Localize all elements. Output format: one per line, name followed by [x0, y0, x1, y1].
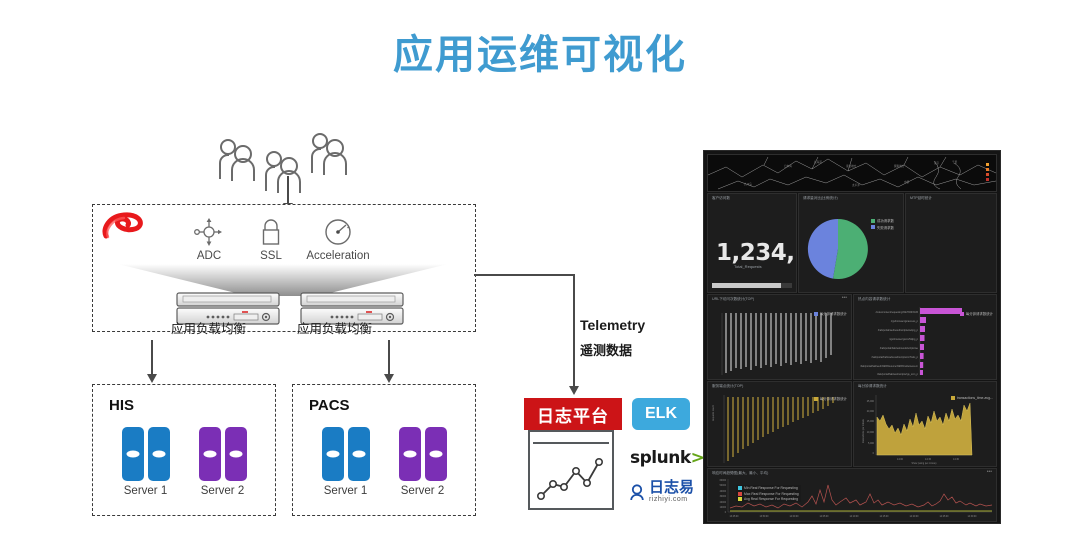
svg-text:/hab/portal/hab/webresult/scri: /hab/portal/hab/webresult/scripts/cn/Too… [871, 356, 918, 359]
svg-text:13:45:00: 13:45:00 [730, 516, 740, 518]
svg-text:太平洋: 太平洋 [852, 183, 860, 187]
svg-text:14:30:00: 14:30:00 [968, 516, 978, 518]
goldseries-legend: transactions_time-avg-.. [951, 396, 993, 400]
svg-text:60000: 60000 [720, 480, 727, 482]
svg-text:14:00: 14:00 [897, 458, 904, 461]
pie-legend: 成功请求数 失败请求数 [871, 218, 894, 230]
svg-text:13:50:00: 13:50:00 [760, 516, 770, 518]
svg-text:/rgs/browse/rgs/access_p: /rgs/browse/rgs/access_p [891, 320, 919, 323]
svg-text:/rgs/browse/rgs/cn/Mdpg_p: /rgs/browse/rgs/cn/Mdpg_p [889, 338, 919, 341]
splunk-wordmark: splunk [630, 448, 691, 468]
legend-item: Min Real Response For Requesting [744, 486, 798, 490]
server-label: Server 2 [199, 485, 247, 497]
svg-text:中部: 中部 [904, 180, 910, 184]
dashboard-screenshot: 九州岛日本海北海道 東北地方太平洋関東地方 中部東京千葉 客户访问数 1,234… [703, 150, 1001, 524]
svg-text:40000: 40000 [720, 491, 727, 493]
server-label: Server 2 [399, 485, 447, 497]
log-platform-button[interactable]: 日志平台 [524, 398, 622, 430]
dashboard-panel-urlbars: URL下访问次数统计(TOP) ••• [707, 294, 852, 380]
rizhiyi-logo: 日志易 rizhiyi.com [628, 480, 694, 503]
svg-text:50000: 50000 [720, 485, 727, 487]
svg-text:日本海: 日本海 [784, 164, 792, 168]
appliance-label: 应用负载均衡 [171, 318, 246, 337]
feature-acceleration: Acceleration [293, 216, 383, 262]
feature-label: Acceleration [293, 250, 383, 262]
svg-text:/hab/portal/hab/web/scripts/rg: /hab/portal/hab/web/scripts/rgs_s/cn_p [877, 373, 919, 376]
total-caption: Total_Requests [734, 264, 762, 269]
svg-text:requests count: requests count [712, 405, 715, 421]
dashboard-panel-blank: MTP延时统计 [905, 193, 997, 293]
dashboard-panel-pie: 请求量对比(比例统计) 成功请求数 失败请求数 [798, 193, 904, 293]
svg-text:0: 0 [725, 512, 727, 514]
group-pacs: PACS Server 1 Server 2 [292, 384, 476, 516]
server-item: Server 2 [199, 427, 247, 497]
svg-text:5,000: 5,000 [868, 442, 875, 445]
legend-item: transactions_time-avg-.. [957, 396, 993, 400]
bar-chart-gold: requests count [708, 391, 851, 465]
telemetry-label-cn: 遥测数据 [580, 340, 632, 359]
svg-text:14:10:00: 14:10:00 [850, 516, 860, 518]
svg-text:transactions per minute: transactions per minute [862, 418, 865, 443]
svg-text:/hab/portal/hab/webresult/scri: /hab/portal/hab/webresult/scripts/we [880, 347, 919, 350]
svg-text:九州岛: 九州岛 [744, 182, 752, 186]
response-legend: Min Real Response For Requesting Max Rea… [736, 485, 801, 502]
svg-text:14:05:00: 14:05:00 [820, 516, 830, 518]
group-title-his: HIS [109, 397, 134, 414]
users-group-icon [216, 132, 356, 184]
rizhiyi-domain: rizhiyi.com [649, 496, 694, 503]
legend-item: 每分钟请求数统计 [966, 311, 993, 316]
dashboard-panel-gold: 服务端点统计(TOP) requests count [707, 381, 852, 467]
page-title: 应用运维可视化 [0, 22, 1080, 80]
panel-scrollbar[interactable] [712, 283, 792, 288]
legend-item: Max Real Response For Requesting [744, 492, 799, 496]
rizhiyi-wordmark: 日志易 [649, 480, 694, 495]
connector-adc-to-log-h [474, 274, 574, 276]
svg-text:14:15:00: 14:15:00 [880, 516, 890, 518]
panel-title: 客户访问数 [712, 196, 730, 201]
connector-adc-to-his [151, 340, 153, 376]
panel-title: 服务端点统计(TOP) [712, 384, 743, 389]
panel-title: MTP延时统计 [910, 196, 932, 201]
line-chart-icon [531, 446, 609, 506]
svg-text:14:00:00: 14:00:00 [790, 516, 800, 518]
legend-item: 失败请求数 [877, 225, 894, 230]
panel-title: 热点内容请求数统计 [858, 297, 890, 302]
user-pair-icon [308, 132, 354, 176]
svg-text:/hab/portal/hab/web/%E5%source: /hab/portal/hab/web/%E5%source/%E5%nd/ac… [860, 365, 918, 368]
pie-chart [807, 218, 869, 280]
arrowhead-his [147, 374, 157, 383]
dashboard-panel-goldseries: 每分钟请求数统计 25,00020,00015,000 10,0005,0000… [853, 381, 997, 467]
server-icon [399, 427, 447, 481]
legend-item: Avg Real Response For Requesting [744, 497, 798, 501]
splunk-logo: splunk> [630, 448, 704, 468]
server-label: Server 1 [122, 485, 170, 497]
panel-title: 每分钟请求数统计 [858, 384, 887, 389]
red-swirl-logo [100, 210, 144, 244]
legend-item: 成功请求数 [877, 218, 894, 223]
arrowhead-log-platform [569, 386, 579, 395]
magenta-legend: 每分钟请求数统计 [960, 311, 993, 316]
svg-text:東北地方: 東北地方 [846, 164, 857, 168]
server-list-his: Server 1 Server 2 [107, 427, 261, 497]
acceleration-gauge-icon [293, 216, 383, 248]
user-pair-icon [216, 138, 262, 182]
group-his: HIS Server 1 Server 2 [92, 384, 276, 516]
column-series-gold: 25,00020,00015,000 10,0005,0000 14:0014:… [854, 391, 996, 465]
connector-adc-to-pacs [388, 340, 390, 376]
elk-button[interactable]: ELK [632, 398, 690, 430]
legend-item: 每分钟请求数统计 [820, 311, 847, 316]
dashboard-panel-response: 响应时间趋势图(最大、最小、平均) ••• 600005000040000 30… [707, 468, 997, 522]
svg-text:14:25:00: 14:25:00 [940, 516, 950, 518]
panel-title: URL下访问次数统计(TOP) [712, 297, 754, 302]
svg-text:東京: 東京 [934, 161, 940, 165]
appliance-label: 应用负载均衡 [297, 318, 372, 337]
server-item: Server 2 [399, 427, 447, 497]
dashboard-panel-magenta: 热点内容请求数统计 /index/content/requesting/%E7%… [853, 294, 997, 380]
urlbars-legend: 每分钟请求数统计 [814, 311, 847, 316]
server-item: Server 1 [322, 427, 370, 497]
connector-adc-to-log-v [573, 274, 575, 388]
panel-title: 请求量对比(比例统计) [803, 196, 838, 201]
svg-text:/hab/portal/webresult/scripts/: /hab/portal/webresult/scripts/webpg_p [878, 329, 919, 332]
total-value: 1,234,730 [716, 240, 797, 266]
svg-text:14:20:00: 14:20:00 [910, 516, 920, 518]
rizhiyi-mark-icon [628, 483, 646, 501]
adc-feature-icons: ADC SSL Acceleration [170, 216, 440, 268]
svg-text:14:30: 14:30 [953, 458, 960, 461]
svg-text:20,000: 20,000 [867, 410, 875, 413]
svg-text:14:15: 14:15 [925, 458, 932, 461]
server-icon [199, 427, 247, 481]
slide-canvas: 应用运维可视化 [0, 0, 1080, 541]
server-list-pacs: Server 1 Server 2 [307, 427, 461, 497]
server-icon [322, 427, 370, 481]
svg-text:関東地方: 関東地方 [894, 164, 905, 168]
log-platform-chart-icon [528, 430, 614, 510]
arrowhead-pacs [384, 374, 394, 383]
svg-text:15,000: 15,000 [867, 420, 875, 423]
map-legend [986, 163, 989, 181]
server-item: Server 1 [122, 427, 170, 497]
user-pair-icon [262, 150, 308, 194]
svg-text:/index/content/requesting/%E7%: /index/content/requesting/%E7%9F%A5 [876, 311, 919, 314]
telemetry-label-en: Telemetry [580, 317, 645, 333]
svg-text:10,000: 10,000 [867, 431, 875, 434]
legend-item: 每分钟请求数统计 [820, 396, 847, 401]
gold-legend: 每分钟请求数统计 [814, 396, 847, 401]
svg-text:0: 0 [873, 452, 875, 455]
dashboard-panel-total: 客户访问数 1,234,730 Total_Requests [707, 193, 797, 293]
arrow-users-to-adc [287, 176, 289, 204]
svg-text:千葉: 千葉 [952, 160, 958, 164]
svg-text:25,000: 25,000 [867, 400, 875, 403]
svg-text:30000: 30000 [720, 496, 727, 498]
svg-text:10000: 10000 [720, 507, 727, 509]
map-vector: 九州岛日本海北海道 東北地方太平洋関東地方 中部東京千葉 [708, 155, 996, 191]
svg-text:20000: 20000 [720, 502, 727, 504]
server-label: Server 1 [322, 485, 370, 497]
svg-text:Show (using per minute): Show (using per minute) [912, 462, 937, 465]
svg-text:北海道: 北海道 [814, 160, 822, 164]
group-title-pacs: PACS [309, 397, 350, 414]
server-icon [122, 427, 170, 481]
dashboard-panel-map: 九州岛日本海北海道 東北地方太平洋関東地方 中部東京千葉 [707, 154, 997, 192]
